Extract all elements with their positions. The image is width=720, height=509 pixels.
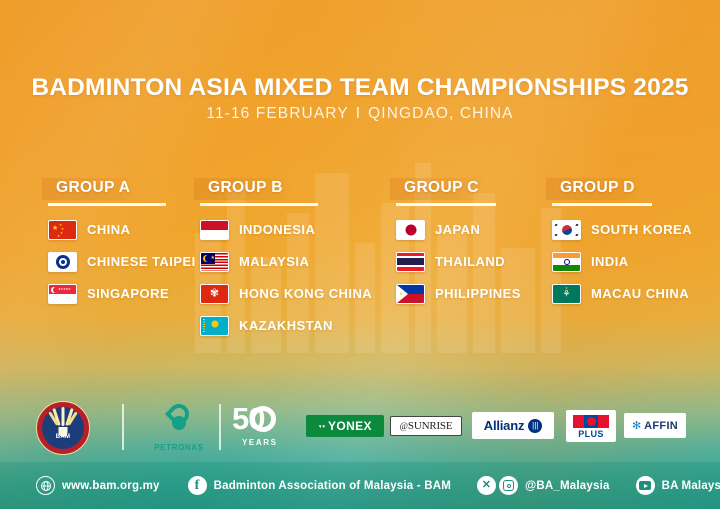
group-d-underline: [552, 203, 652, 206]
team-label: CHINA: [87, 222, 130, 237]
affin-logo: ✻ AFFIN: [624, 413, 686, 438]
affin-label: AFFIN: [644, 420, 678, 432]
social-handle-label: @BA_Malaysia: [525, 480, 610, 492]
group-d: GROUP D ▰ ▰ ▰ ▰ SOUTH KOREA: [552, 178, 692, 311]
bam-logo-text: BAM: [36, 434, 90, 440]
team-row: INDIA: [552, 247, 692, 277]
group-d-title: GROUP D: [546, 178, 645, 200]
plus-logo: PLUS: [566, 410, 616, 442]
singapore-flag: ★★★★★: [48, 284, 77, 304]
team-row: CHINESE TAIPEI: [48, 247, 196, 277]
team-row: JAPAN: [396, 215, 521, 245]
sponsor-row: BAM PETRONAS 50 YEARS ▼▼ YONEX @ SUNRISE: [0, 398, 720, 456]
allianz-logo: Allianz |||: [472, 412, 554, 439]
team-label: MACAU CHINA: [591, 286, 689, 301]
poster-background: BADMINTON ASIA MIXED TEAM CHAMPIONSHIPS …: [0, 0, 720, 509]
poster-subtitle: 11-16 FEBRUARYIQINGDAO, CHINA: [0, 105, 720, 123]
team-label: PHILIPPINES: [435, 286, 521, 301]
india-flag: [552, 252, 581, 272]
x-twitter-icon[interactable]: ✕: [477, 476, 496, 495]
team-row: THAILAND: [396, 247, 521, 277]
team-label: JAPAN: [435, 222, 480, 237]
social-bar: www.bam.org.my f Badminton Association o…: [0, 462, 720, 509]
team-label: THAILAND: [435, 254, 505, 269]
bam-logo: BAM: [36, 401, 90, 455]
social-handle-group[interactable]: ✕ @BA_Malaysia: [477, 476, 610, 495]
website-link[interactable]: www.bam.org.my: [36, 476, 160, 495]
team-row: KAZAKHSTAN: [200, 311, 372, 341]
team-label: SOUTH KOREA: [591, 222, 692, 237]
sunrise-logo: @ SUNRISE: [390, 416, 462, 436]
kazakhstan-flag: [200, 316, 229, 336]
team-label: KAZAKHSTAN: [239, 318, 333, 333]
team-row: ⚘ ★ MACAU CHINA: [552, 279, 692, 309]
japan-flag: [396, 220, 425, 240]
event-venue: QINGDAO, CHINA: [368, 105, 513, 122]
group-c: GROUP C JAPAN THAILAND: [396, 178, 521, 311]
poster-title: BADMINTON ASIA MIXED TEAM CHAMPIONSHIPS …: [0, 74, 720, 102]
group-b-title: GROUP B: [194, 178, 293, 200]
team-row: ★ ★ ★ ★ ★ CHINA: [48, 215, 196, 245]
team-label: INDIA: [591, 254, 629, 269]
facebook-icon: f: [188, 476, 207, 495]
philippines-flag: ★: [396, 284, 425, 304]
south-korea-flag: ▰ ▰ ▰ ▰: [552, 220, 581, 240]
sponsor-divider: [122, 404, 124, 450]
affin-mark-icon: ✻: [632, 419, 641, 432]
youtube-label: BA Malaysia: [662, 480, 720, 492]
plus-label: PLUS: [578, 429, 604, 439]
petronas-label: PETRONAS: [148, 443, 210, 452]
subtitle-separator: I: [349, 105, 368, 122]
china-flag: ★ ★ ★ ★ ★: [48, 220, 77, 240]
sunrise-label: SUNRISE: [408, 420, 452, 432]
group-b: GROUP B INDONESIA ★ MALAYSIA: [200, 178, 372, 343]
team-label: SINGAPORE: [87, 286, 169, 301]
thailand-flag: [396, 252, 425, 272]
facebook-link[interactable]: f Badminton Association of Malaysia - BA…: [188, 476, 451, 495]
anniversary-50-years-logo: 50 YEARS: [230, 403, 292, 451]
website-label: www.bam.org.my: [62, 480, 160, 492]
chinese-taipei-flag: [48, 252, 77, 272]
team-row: INDONESIA: [200, 215, 372, 245]
allianz-label: Allianz: [484, 418, 525, 433]
team-label: HONG KONG CHINA: [239, 286, 372, 301]
malaysia-flag: ★: [200, 252, 229, 272]
indonesia-flag: [200, 220, 229, 240]
facebook-label: Badminton Association of Malaysia - BAM: [214, 480, 451, 492]
groups-container: GROUP A ★ ★ ★ ★ ★ CHINA: [0, 178, 720, 338]
team-label: INDONESIA: [239, 222, 315, 237]
group-c-title: GROUP C: [390, 178, 489, 200]
group-c-underline: [396, 203, 496, 206]
group-a: GROUP A ★ ★ ★ ★ ★ CHINA: [48, 178, 196, 311]
youtube-link[interactable]: BA Malaysia: [636, 476, 720, 495]
team-row: ★★★★★ SINGAPORE: [48, 279, 196, 309]
team-label: CHINESE TAIPEI: [87, 254, 196, 269]
group-a-title: GROUP A: [42, 178, 140, 200]
team-row: ★ PHILIPPINES: [396, 279, 521, 309]
event-dates: 11-16 FEBRUARY: [206, 105, 348, 122]
group-a-underline: [48, 203, 166, 206]
team-row: ▰ ▰ ▰ ▰ SOUTH KOREA: [552, 215, 692, 245]
team-row: ✾ HONG KONG CHINA: [200, 279, 372, 309]
group-b-underline: [200, 203, 318, 206]
hong-kong-china-flag: ✾: [200, 284, 229, 304]
anniversary-word: YEARS: [242, 438, 278, 447]
sponsor-divider: [219, 404, 221, 450]
instagram-icon[interactable]: [499, 476, 518, 495]
allianz-mark-icon: |||: [528, 419, 542, 433]
youtube-icon: [636, 476, 655, 495]
petronas-logo: PETRONAS: [148, 404, 210, 452]
team-row: ★ MALAYSIA: [200, 247, 372, 277]
yonex-label: YONEX: [328, 419, 372, 433]
macau-china-flag: ⚘ ★: [552, 284, 581, 304]
team-label: MALAYSIA: [239, 254, 309, 269]
globe-icon: [36, 476, 55, 495]
yonex-logo: ▼▼ YONEX: [306, 415, 384, 437]
